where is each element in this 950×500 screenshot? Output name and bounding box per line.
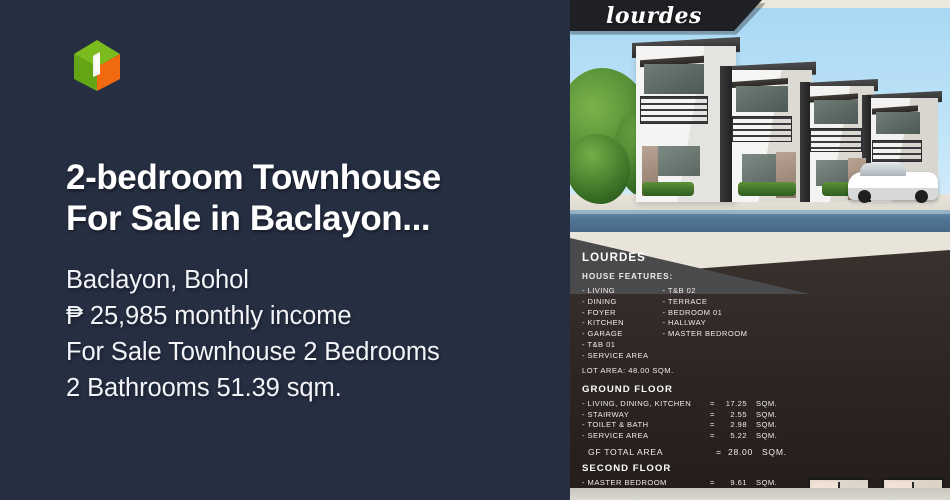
listing-meta-list: Baclayon, Bohol ₱ 25,985 monthly income …: [66, 263, 530, 407]
title-line-2: For Sale in Baclayon...: [66, 199, 530, 240]
gf-total-unit: SQM.: [753, 446, 787, 458]
spec-row-value: 2.98: [719, 420, 747, 431]
tree-decor: [570, 134, 630, 204]
feature-item: - HALLWAY: [663, 318, 748, 329]
spec-row-name: - LIVING, DINING, KITCHEN: [582, 399, 710, 410]
feature-item: - TERRACE: [663, 297, 748, 308]
features-column-1: - LIVING - DINING - FOYER - KITCHEN - GA…: [582, 286, 649, 361]
spec-row: - STAIRWAY = 2.55 SQM.: [582, 410, 797, 421]
feature-item: - MASTER BEDROOM: [663, 329, 748, 340]
spec-row: - TOILET & BATH = 2.98 SQM.: [582, 420, 797, 431]
feature-item: - GARAGE: [582, 329, 649, 340]
spec-text-block: LOURDES HOUSE FEATURES: - LIVING - DININ…: [582, 250, 797, 500]
upper-window: [814, 100, 858, 124]
upper-window: [876, 112, 920, 134]
spec-features-columns: - LIVING - DINING - FOYER - KITCHEN - GA…: [582, 286, 797, 361]
feature-item: - BEDROOM 01: [663, 308, 748, 319]
project-banner: lourdes: [570, 0, 762, 31]
feature-item: - LIVING: [582, 286, 649, 297]
balcony-railing: [732, 116, 792, 142]
spec-row: - MASTER BEDROOM = 9.61 SQM.: [582, 478, 797, 489]
spec-row-unit: SQM.: [747, 431, 777, 442]
spec-project-name: LOURDES: [582, 250, 797, 266]
spec-row-unit: SQM.: [747, 410, 777, 421]
spec-row-value: 9.61: [719, 478, 747, 489]
spec-row: - LIVING, DINING, KITCHEN = 17.25 SQM.: [582, 399, 797, 410]
spec-row-name: - STAIRWAY: [582, 410, 710, 421]
listing-description-line-2: 2 Bathrooms 51.39 sqm.: [66, 371, 530, 407]
feature-item: - KITCHEN: [582, 318, 649, 329]
spec-row-unit: SQM.: [747, 478, 777, 489]
hedge-decor: [642, 182, 694, 196]
upper-window: [644, 64, 704, 94]
brand-logo[interactable]: [66, 34, 128, 96]
spec-row-name: - SERVICE AREA: [582, 431, 710, 442]
sheet-bottom-strip: [570, 488, 950, 500]
listing-description-line-1: For Sale Townhouse 2 Bedrooms: [66, 335, 530, 371]
facade-pillar: [720, 66, 732, 202]
spec-features-heading: HOUSE FEATURES:: [582, 271, 797, 283]
gf-total-eq: =: [716, 446, 725, 458]
spec-row-name: - TOILET & BATH: [582, 420, 710, 431]
balcony-railing: [872, 140, 922, 162]
feature-item: - FOYER: [582, 308, 649, 319]
feature-item: - T&B 02: [663, 286, 748, 297]
feature-item: - T&B 01: [582, 340, 649, 351]
spec-sheet: LOURDES HOUSE FEATURES: - LIVING - DININ…: [570, 232, 950, 500]
page-title: 2-bedroom Townhouse For Sale in Baclayon…: [66, 158, 530, 239]
lower-window: [656, 146, 700, 176]
property-listing-card: 2-bedroom Townhouse For Sale in Baclayon…: [0, 0, 950, 500]
hedge-decor: [738, 182, 796, 196]
spec-row-unit: SQM.: [747, 399, 777, 410]
upper-window: [736, 86, 788, 112]
spec-row-unit: SQM.: [747, 420, 777, 431]
house-one-logo-icon: [66, 34, 128, 96]
second-floor-heading: SECOND FLOOR: [582, 462, 797, 476]
project-banner-label: lourdes: [606, 3, 702, 29]
title-line-1: 2-bedroom Townhouse: [66, 158, 530, 199]
spec-lot-area: LOT AREA: 48.00 SQM.: [582, 366, 797, 377]
listing-info-panel: 2-bedroom Townhouse For Sale in Baclayon…: [0, 0, 570, 500]
spec-row-name: - MASTER BEDROOM: [582, 478, 710, 489]
feature-item: - SERVICE AREA: [582, 351, 649, 362]
gf-total-value: 28.00: [725, 446, 753, 458]
foreground-road: [570, 210, 950, 232]
car-wheel: [858, 190, 871, 203]
spec-row-eq: =: [710, 478, 719, 489]
spec-row-eq: =: [710, 431, 719, 442]
spec-row-value: 2.55: [719, 410, 747, 421]
spec-row-value: 17.25: [719, 399, 747, 410]
balcony-railing: [640, 96, 708, 124]
ground-floor-heading: GROUND FLOOR: [582, 383, 797, 397]
ground-floor-total: GF TOTAL AREA = 28.00 SQM.: [582, 446, 797, 458]
spec-row-value: 5.22: [719, 431, 747, 442]
ground-floor-rows: - LIVING, DINING, KITCHEN = 17.25 SQM. -…: [582, 399, 797, 442]
car-wheel: [915, 190, 928, 203]
parked-car: [848, 172, 938, 200]
spec-row-eq: =: [710, 399, 719, 410]
spec-row-eq: =: [710, 410, 719, 421]
listing-price: ₱ 25,985 monthly income: [66, 299, 530, 335]
features-column-2: - T&B 02 - TERRACE - BEDROOM 01 - HALLWA…: [663, 286, 748, 361]
gf-total-label: GF TOTAL AREA: [582, 446, 716, 458]
listing-media-panel[interactable]: lourdes LOURDES HOUSE FEATURES: - LIVING…: [570, 0, 950, 500]
listing-location: Baclayon, Bohol: [66, 263, 530, 299]
facade-pillar: [800, 82, 810, 202]
spec-row-eq: =: [710, 420, 719, 431]
balcony-railing: [810, 128, 862, 152]
spec-row: - SERVICE AREA = 5.22 SQM.: [582, 431, 797, 442]
feature-item: - DINING: [582, 297, 649, 308]
